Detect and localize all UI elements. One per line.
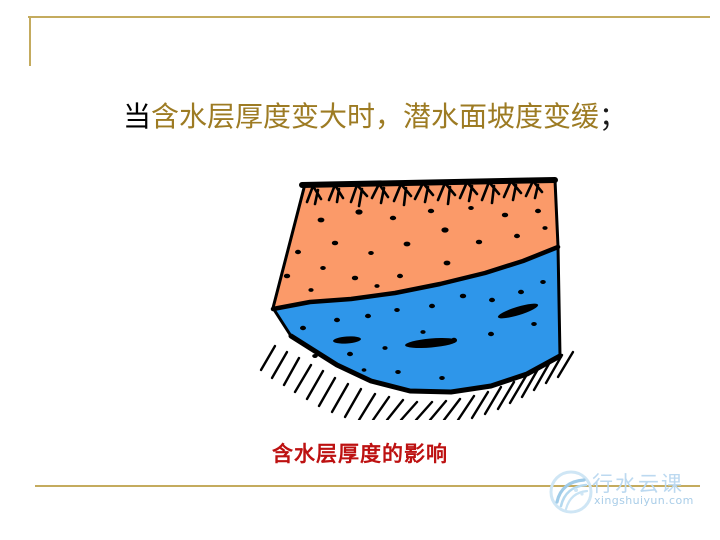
bottom-horizontal-rule (35, 485, 700, 487)
top-horizontal-rule (28, 16, 710, 18)
wave-circle-logo-icon (548, 468, 594, 516)
watermark-cn-text: 行水云课 (592, 468, 684, 498)
slide-canvas: 当含水层厚度变大时，潜水面坡度变缓； (0, 0, 720, 540)
cross-section-svg (255, 168, 585, 420)
site-watermark: 行水云课 xingshuiyun.com (548, 468, 720, 528)
slide-title: 当含水层厚度变大时，潜水面坡度变缓； (123, 99, 643, 135)
title-tail-punctuation: ； (599, 100, 627, 133)
figure-caption: 含水层厚度的影响 (0, 438, 720, 468)
top-left-vertical-rule (29, 17, 31, 66)
aquifer-cross-section-figure (255, 168, 585, 420)
title-lead-text: 当 (123, 100, 151, 133)
watermark-en-text: xingshuiyun.com (594, 494, 694, 507)
title-highlight-text: 含水层厚度变大时，潜水面坡度变缓 (151, 100, 599, 133)
